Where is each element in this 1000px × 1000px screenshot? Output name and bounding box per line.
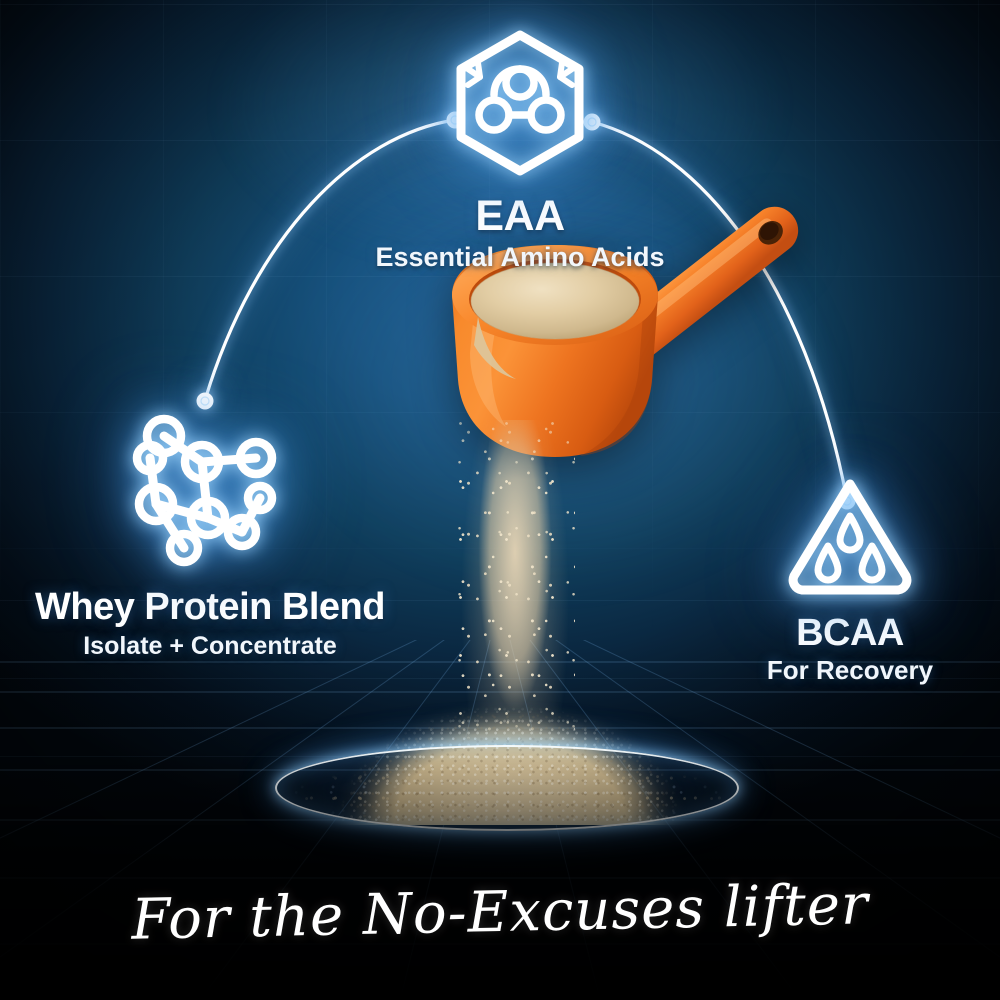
molecule-network-icon — [0, 400, 420, 570]
feature-title: EAA — [300, 194, 740, 239]
feature-eaa: EAA Essential Amino Acids — [300, 28, 740, 273]
triangle-droplets-icon — [700, 470, 1000, 600]
feature-subtitle: For Recovery — [700, 656, 1000, 686]
feature-whey-protein-blend: Whey Protein Blend Isolate + Concentrate — [0, 400, 420, 661]
hexagon-amino-acid-icon — [300, 28, 740, 178]
protein-powder-infographic-poster: EAA Essential Amino Acids — [0, 0, 1000, 1000]
feature-subtitle: Isolate + Concentrate — [0, 632, 420, 661]
feature-title: BCAA — [700, 614, 1000, 654]
feature-bcaa: BCAA For Recovery — [700, 470, 1000, 686]
feature-title: Whey Protein Blend — [0, 588, 420, 628]
feature-subtitle: Essential Amino Acids — [300, 242, 740, 273]
